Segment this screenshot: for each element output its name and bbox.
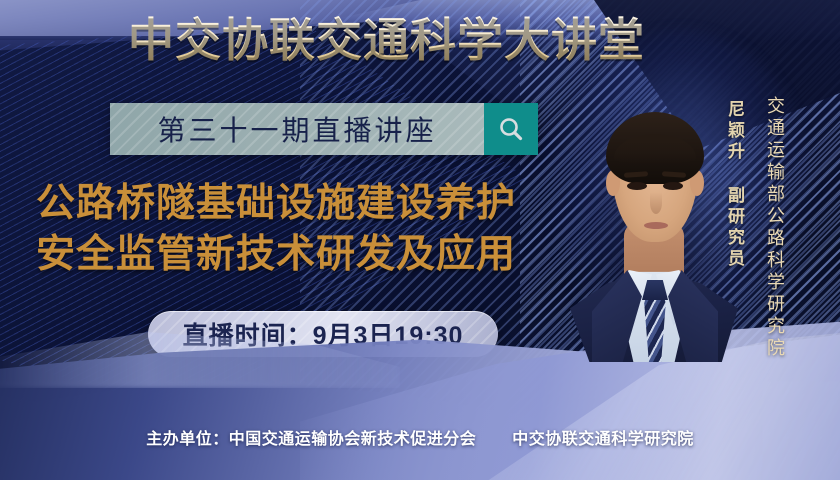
schedule-badge: 直播时间：9月3日19:30 (148, 311, 498, 357)
portrait-mouth (644, 222, 668, 229)
speaker-portrait (568, 72, 740, 362)
schedule-label: 直播时间：9月3日19:30 (183, 316, 464, 352)
episode-label: 第三十一期直播讲座 (157, 109, 436, 149)
lecture-subject: 公路桥隧基础设施建设养护 安全监管新技术研发及应用 (36, 178, 516, 281)
footer-organizers: 主办单位：中国交通运输协会新技术促进分会 中交协联交通科学研究院 (0, 425, 840, 449)
speaker-name-title: 尼颖升 副研究员 (722, 100, 747, 270)
episode-search-bar[interactable]: 第三十一期直播讲座 (110, 103, 538, 155)
lecture-subject-line-2: 安全监管新技术研发及应用 (36, 229, 516, 280)
livestream-poster: 中交协联交通科学大讲堂 中交协联交通科学大讲堂 第三十一期直播讲座 公路桥隧基础… (0, 0, 840, 480)
portrait-eye-left (627, 182, 647, 190)
speaker-organization: 交通运输部公路科学研究院 (762, 96, 788, 360)
footer-organizer-label: 主办单位：中国交通运输协会新技术促进分会 (146, 431, 476, 448)
search-icon (497, 115, 525, 143)
portrait-eye-right (663, 182, 683, 190)
portrait-nose (650, 192, 662, 214)
footer-co-organizer: 中交协联交通科学研究院 (512, 431, 694, 448)
lecture-subject-line-1: 公路桥隧基础设施建设养护 (36, 178, 516, 229)
episode-search-field[interactable]: 第三十一期直播讲座 (110, 103, 484, 155)
search-button[interactable] (484, 103, 538, 155)
brand-title: 中交协联交通科学大讲堂 (128, 16, 645, 64)
